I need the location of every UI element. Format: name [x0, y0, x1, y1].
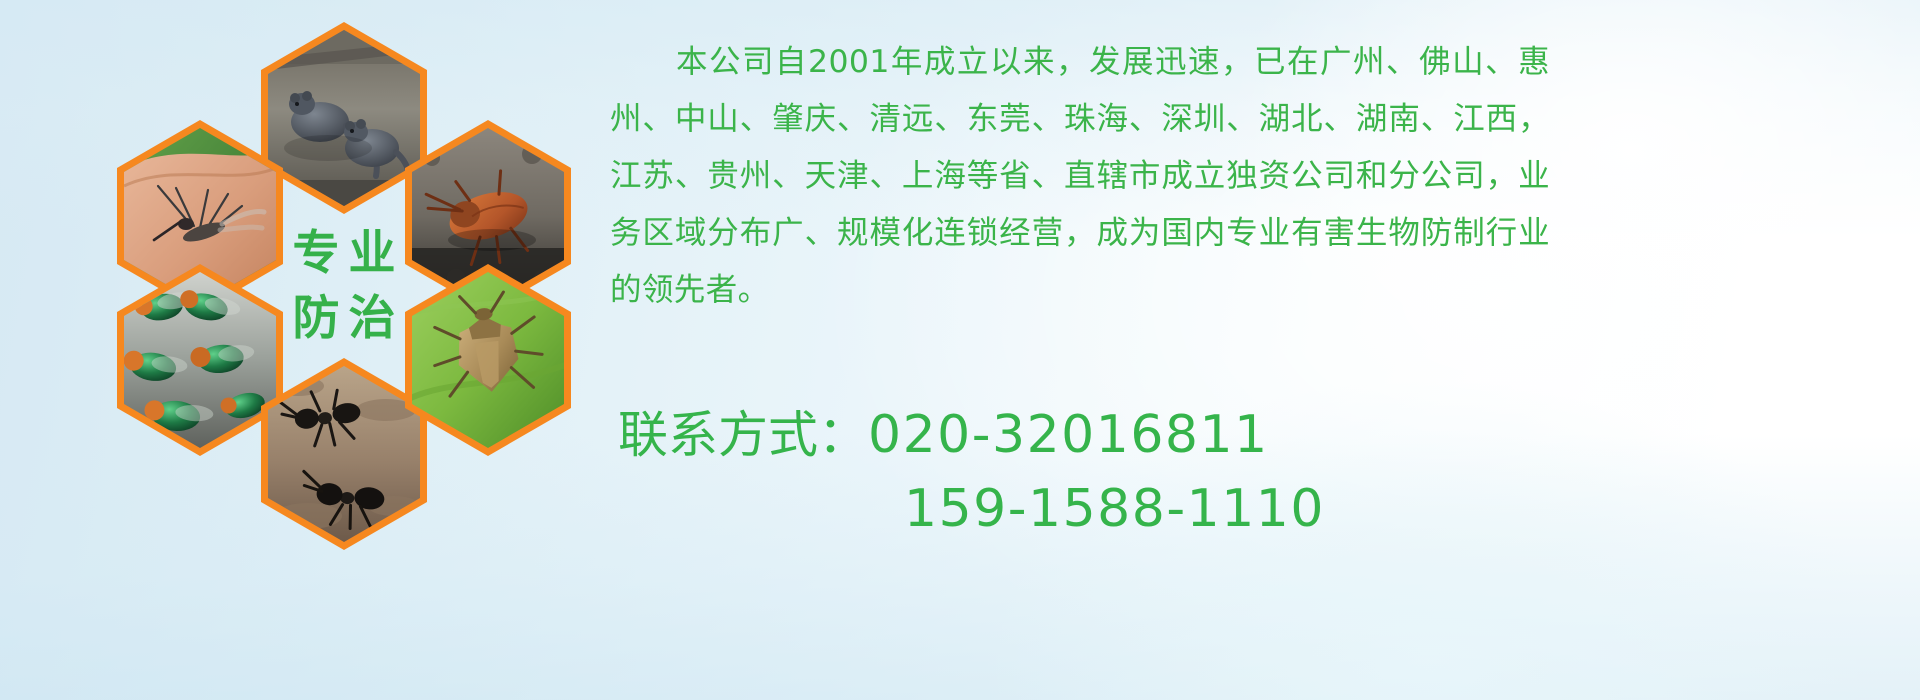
contact-line-primary: 联系方式：020-32016811 [618, 398, 1578, 472]
flies-photo [117, 264, 283, 456]
rodent-photo-inner [268, 30, 420, 206]
stinkbug-illustration [412, 272, 564, 448]
flies-illustration [124, 272, 276, 448]
stinkbug-photo-inner [412, 272, 564, 448]
flies-photo-inner [124, 272, 276, 448]
rodent-photo [261, 22, 427, 214]
rodent-illustration [268, 30, 420, 206]
brand-hex-label: 专业 防治 [261, 190, 427, 382]
banner-root: 专业 防治 本公司自2001年成立以来，发展迅速，已在广州、佛山、惠州、中山、肇… [0, 0, 1920, 700]
honeycomb-photo-cluster: 专业 防治 [95, 8, 595, 553]
ant-photo-inner [268, 366, 420, 542]
contact-phone-primary[interactable]: 020-32016811 [868, 405, 1269, 465]
stinkbug-photo [405, 264, 571, 456]
ant-illustration [268, 366, 420, 542]
company-description-text: 本公司自2001年成立以来，发展迅速，已在广州、佛山、惠州、中山、肇庆、清远、东… [610, 34, 1550, 319]
brand-label-line1: 专业 [284, 230, 405, 278]
contact-block: 联系方式：020-32016811 159-1588-1110 [618, 398, 1578, 546]
contact-label: 联系方式： [618, 406, 868, 464]
company-description: 本公司自2001年成立以来，发展迅速，已在广州、佛山、惠州、中山、肇庆、清远、东… [610, 34, 1550, 319]
contact-phone-secondary[interactable]: 159-1588-1110 [904, 472, 1578, 546]
ant-photo [261, 358, 427, 550]
brand-label-line2: 防治 [284, 295, 405, 343]
